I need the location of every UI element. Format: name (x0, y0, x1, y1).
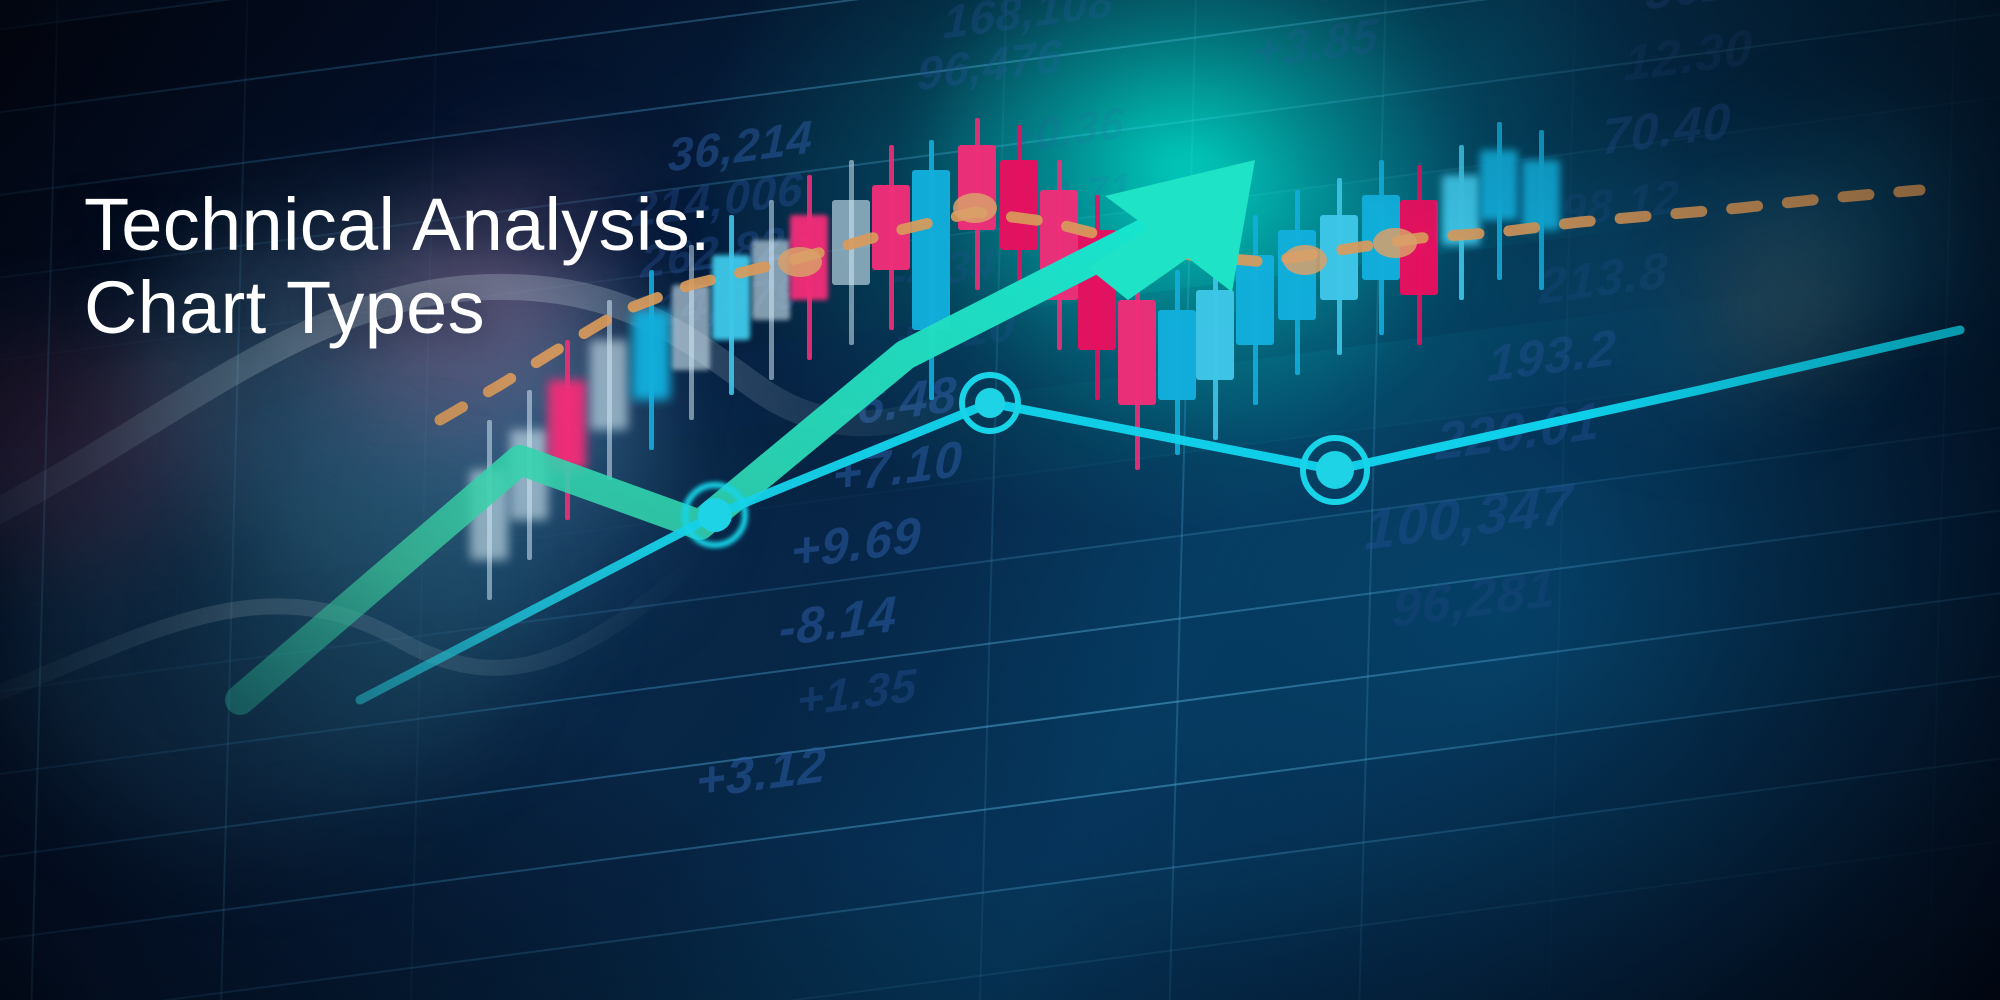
line-chart-path (360, 330, 1960, 700)
line-node-dot (975, 388, 1005, 418)
line-node-dot (1316, 451, 1354, 489)
title-line-2: Chart Types (84, 267, 711, 350)
line-node-dot (698, 498, 732, 532)
hero-banner: 168,10896,47636,214214,006262,825314,079… (0, 0, 2000, 1000)
page-title: Technical Analysis: Chart Types (84, 184, 711, 350)
title-line-1: Technical Analysis: (84, 184, 711, 267)
line-chart-series (0, 0, 2000, 1000)
